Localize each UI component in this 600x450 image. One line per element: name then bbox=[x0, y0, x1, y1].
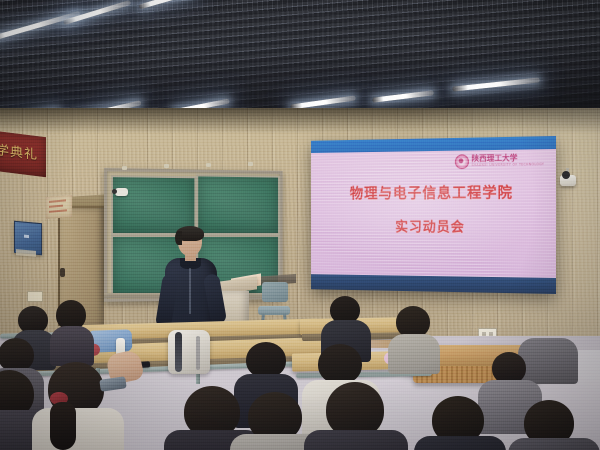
head bbox=[318, 344, 362, 384]
head bbox=[0, 338, 34, 372]
backpack-strap bbox=[175, 332, 182, 372]
torso bbox=[518, 338, 578, 384]
slide-subtitle: 实习动员会 bbox=[311, 217, 556, 237]
presenter-zipper bbox=[189, 268, 191, 314]
chair-back bbox=[262, 282, 288, 302]
board-clip-3 bbox=[206, 163, 211, 167]
torso bbox=[32, 408, 124, 450]
torso bbox=[414, 436, 506, 450]
university-logo: 陕西理工大学 SHAANXI UNIVERSITY OF TECHNOLOGY bbox=[455, 153, 545, 169]
red-banner: 学典礼 bbox=[0, 131, 46, 177]
projection-screen: 陕西理工大学 SHAANXI UNIVERSITY OF TECHNOLOGY … bbox=[311, 136, 556, 294]
security-camera-right-icon bbox=[560, 175, 576, 186]
door-knob-icon[interactable] bbox=[60, 268, 65, 277]
control-box-label bbox=[24, 235, 29, 238]
university-emblem-icon bbox=[455, 154, 469, 169]
board-clip-1 bbox=[122, 166, 127, 170]
presenter-hair-side bbox=[175, 231, 182, 245]
slide-content: 陕西理工大学 SHAANXI UNIVERSITY OF TECHNOLOGY … bbox=[311, 149, 556, 278]
head bbox=[246, 342, 286, 378]
torso bbox=[388, 334, 440, 374]
wall-socket-left bbox=[27, 291, 43, 302]
wall-notice-papers bbox=[46, 195, 72, 219]
board-clip-4 bbox=[248, 162, 253, 166]
ponytail bbox=[50, 402, 76, 450]
lecture-hall-photo: 学典礼 bbox=[0, 0, 600, 450]
slide-title: 物理与电子信息工程学院 bbox=[311, 181, 556, 203]
torso bbox=[304, 430, 408, 450]
torso bbox=[508, 438, 600, 450]
security-camera-left-icon bbox=[115, 188, 128, 196]
banner-text: 学典礼 bbox=[0, 139, 38, 163]
board-clip-2 bbox=[164, 164, 169, 168]
backpack-zip bbox=[196, 336, 200, 370]
blackboard-panel-2 bbox=[196, 174, 280, 235]
torso bbox=[50, 326, 94, 366]
logo-text-en: SHAANXI UNIVERSITY OF TECHNOLOGY bbox=[471, 164, 544, 168]
